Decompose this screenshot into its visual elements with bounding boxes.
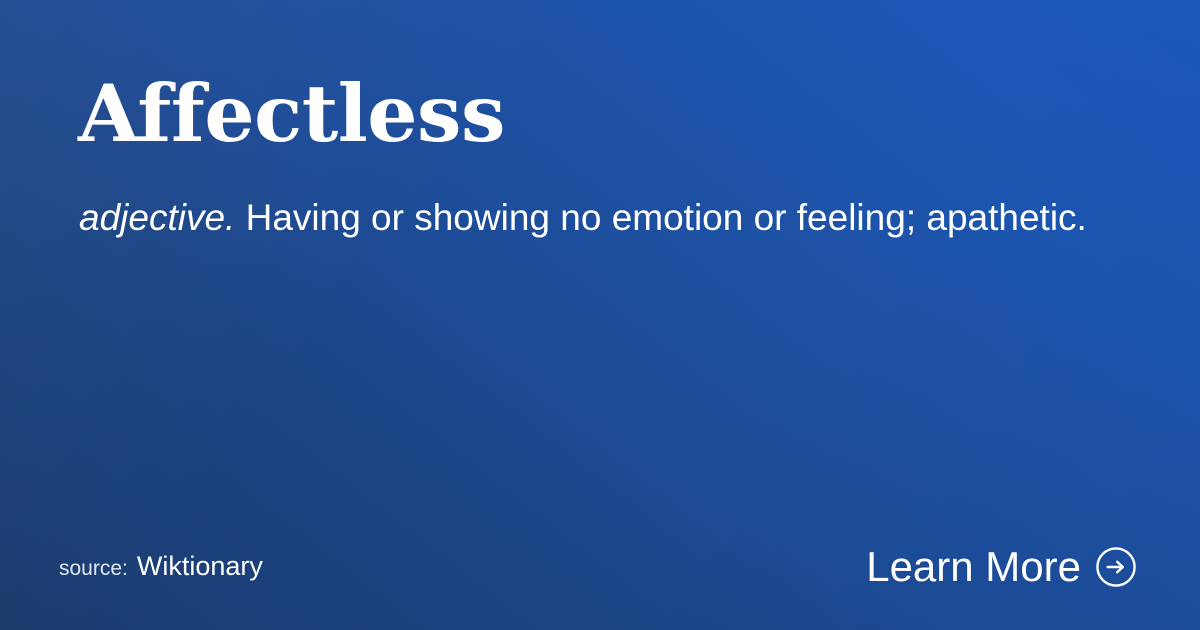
word-definition: adjective. Having or showing no emotion … bbox=[79, 192, 1134, 243]
word-of-the-day-card: Affectless adjective. Having or showing … bbox=[0, 0, 1200, 630]
source-attribution: source: Wiktionary bbox=[59, 551, 263, 582]
source-label: source: bbox=[59, 557, 128, 581]
arrow-circle-right-icon bbox=[1095, 546, 1137, 588]
word-title: Affectless bbox=[78, 72, 505, 156]
definition-text: Having or showing no emotion or feeling;… bbox=[246, 197, 1087, 238]
learn-more-button[interactable]: Learn More bbox=[866, 546, 1137, 588]
source-name: Wiktionary bbox=[137, 551, 263, 582]
part-of-speech: adjective. bbox=[79, 197, 235, 238]
learn-more-label: Learn More bbox=[866, 546, 1081, 588]
card-content: Affectless adjective. Having or showing … bbox=[0, 0, 1200, 630]
